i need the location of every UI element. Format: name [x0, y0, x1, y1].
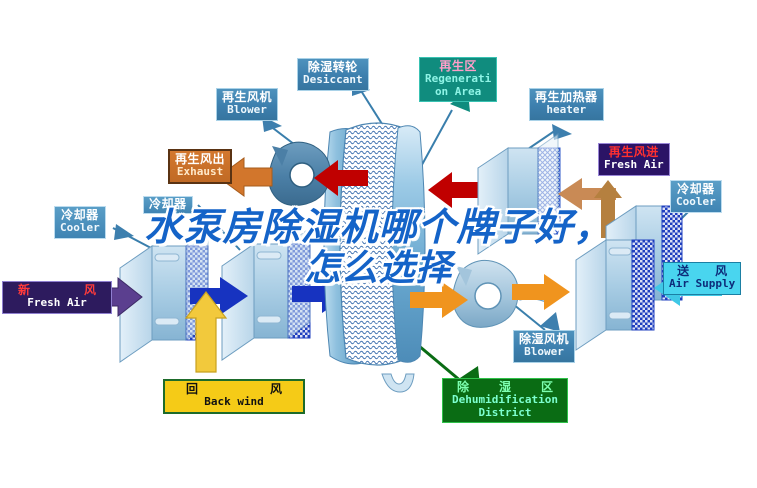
label-regen-area-en-1: Regenerati: [425, 73, 491, 85]
label-regen-fresh-air-cn: 再生风进: [604, 146, 664, 159]
label-air-supply[interactable]: 送 风 Air Supply: [663, 262, 741, 295]
label-cooler-left-upper-cn: 冷却器: [60, 209, 100, 222]
label-regen-heater[interactable]: 再生加热器 heater: [529, 88, 604, 121]
heater-coil: [478, 134, 560, 254]
label-regen-heater-cn: 再生加热器: [535, 91, 598, 104]
supply-filter: [576, 240, 654, 350]
watermark-text: XT: [368, 322, 382, 332]
label-dehum-district-en-2: District: [448, 407, 562, 419]
label-fresh-air[interactable]: 新 风 Fresh Air: [2, 281, 112, 314]
label-back-wind-en: Back wind: [170, 396, 298, 408]
label-dehum-blower-cn: 除湿风机: [519, 333, 569, 346]
label-dehum-blower-en: Blower: [519, 346, 569, 358]
label-dehum-district-en-1: Dehumidification: [448, 394, 562, 406]
label-back-wind-cn: 回 风: [170, 383, 298, 396]
dehum-out-arrow-2: [512, 274, 570, 310]
label-regen-area-en-2: on Area: [425, 86, 491, 98]
label-dehum-blower[interactable]: 除湿风机 Blower: [513, 330, 575, 363]
label-regen-fresh-air-en: Fresh Air: [604, 159, 664, 171]
label-regen-area[interactable]: 再生区 Regenerati on Area: [419, 57, 497, 102]
label-desiccant-wheel[interactable]: 除湿转轮 Desiccant: [297, 58, 369, 91]
label-fresh-air-cn: 新 风: [8, 284, 106, 297]
label-regen-fresh-air[interactable]: 再生风进 Fresh Air: [598, 143, 670, 176]
label-cooler-left-upper[interactable]: 冷却器 Cooler: [54, 206, 106, 239]
label-cooler-right-en: Cooler: [676, 196, 716, 208]
label-dehum-district[interactable]: 除 湿 区 Dehumidification District: [442, 378, 568, 423]
label-exhaust[interactable]: 再生风出 Exhaust: [168, 149, 232, 184]
label-regen-blower[interactable]: 再生风机 Blower: [216, 88, 278, 121]
label-desiccant-wheel-cn: 除湿转轮: [303, 61, 363, 74]
label-cooler-left-lower-cn: 冷却器: [149, 198, 187, 211]
label-regen-heater-en: heater: [535, 104, 598, 116]
label-cooler-right-cn: 冷却器: [676, 183, 716, 196]
label-back-wind[interactable]: 回 风 Back wind: [163, 379, 305, 414]
label-exhaust-cn: 再生风出: [175, 153, 225, 166]
diagram-canvas: 除湿转轮 Desiccant 再生风机 Blower 再生区 Regenerat…: [0, 0, 757, 488]
label-cooler-left-upper-en: Cooler: [60, 222, 100, 234]
label-regen-area-cn: 再生区: [425, 60, 491, 73]
schematic-illustration: [0, 0, 757, 488]
desiccant-rotor: [324, 110, 430, 392]
label-dehum-district-cn: 除 湿 区: [448, 381, 562, 394]
label-regen-blower-cn: 再生风机: [222, 91, 272, 104]
label-exhaust-en: Exhaust: [175, 166, 225, 178]
label-fresh-air-en: Fresh Air: [8, 297, 106, 309]
label-desiccant-wheel-en: Desiccant: [303, 74, 363, 86]
label-air-supply-en: Air Supply: [669, 278, 735, 290]
label-regen-blower-en: Blower: [222, 104, 272, 116]
label-cooler-right[interactable]: 冷却器 Cooler: [670, 180, 722, 213]
label-air-supply-cn: 送 风: [669, 265, 735, 278]
label-cooler-left-lower[interactable]: 冷却器: [143, 196, 193, 214]
